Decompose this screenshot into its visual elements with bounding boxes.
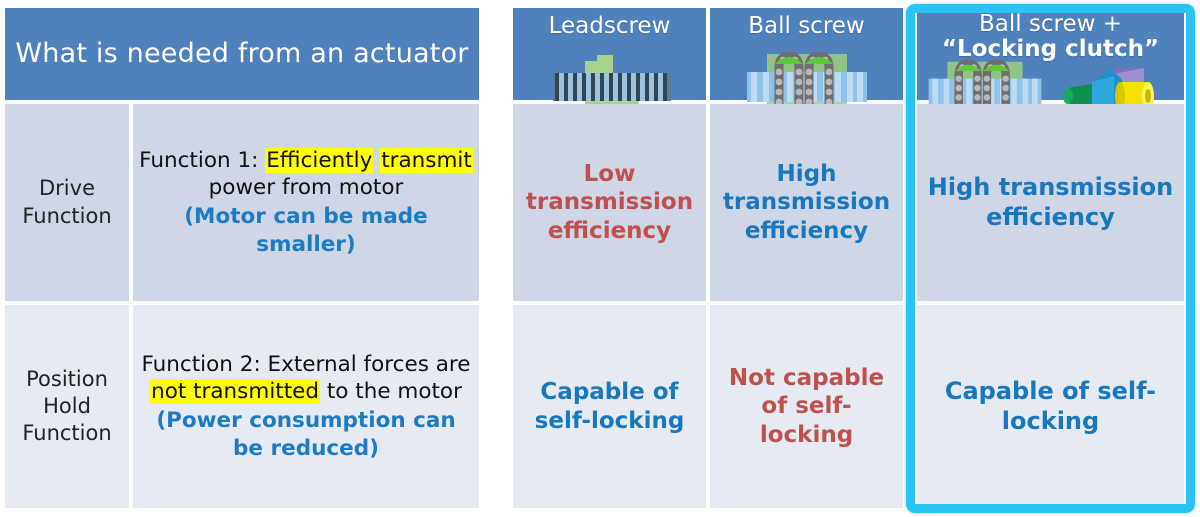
desc-hold-post: to the motor [320, 379, 462, 404]
desc-hold-pre: Function 2: External forces are [141, 352, 470, 377]
desc-drive-pre: Function 1: [139, 148, 265, 173]
cell-drive-leadscrew: Low transmission efficiency [513, 104, 706, 301]
cell-hold-ballscrew-clutch-text: Capable of self-locking [917, 377, 1184, 436]
row-drive-function-label: DriveFunction [5, 175, 129, 230]
cell-hold-leadscrew-text: Capable of self-locking [513, 378, 706, 434]
row-drive-function-description: Function 1: Efficiently transmit power f… [133, 147, 479, 258]
desc-drive-highlight-1: Efficiently [265, 148, 373, 173]
divider-row1-row2-right [513, 301, 1184, 304]
desc-hold-highlight-1: not transmitted [150, 379, 320, 404]
cell-drive-ballscrew-text: High transmission efficiency [710, 160, 903, 244]
cell-drive-ballscrew-clutch: High transmission efficiency [917, 104, 1184, 301]
row-position-hold-label-cell: PositionHoldFunction [5, 305, 129, 508]
header-column-ballscrew-label: Ball screw [710, 8, 903, 39]
header-column-ballscrew-clutch-label: Ball screw + [979, 11, 1122, 37]
desc-drive-post: power from motor [209, 175, 404, 200]
cell-drive-ballscrew-clutch-text: High transmission efficiency [917, 173, 1184, 232]
desc-drive-highlight-2: transmit [380, 148, 473, 173]
row-position-hold-description: Function 2: External forces are not tran… [133, 351, 479, 462]
cell-hold-ballscrew-clutch: Capable of self-locking [917, 305, 1184, 508]
desc-drive-accent: (Motor can be made smaller) [139, 203, 473, 258]
desc-hold-accent: (Power consumption can be reduced) [139, 407, 473, 462]
cell-drive-ballscrew: High transmission efficiency [710, 104, 903, 301]
row-position-hold-label: PositionHoldFunction [5, 366, 129, 448]
divider-header-row1 [5, 100, 479, 103]
cell-hold-leadscrew: Capable of self-locking [513, 305, 706, 508]
cell-hold-ballscrew-text: Not capable of self-locking [710, 364, 903, 448]
divider-ballscrew-clutch [903, 8, 906, 508]
comparison-table-slide: What is needed from an actuator Leadscre… [0, 0, 1200, 517]
divider-label-description [129, 104, 132, 508]
cell-drive-leadscrew-text: Low transmission efficiency [513, 160, 706, 244]
divider-leadscrew-ballscrew [706, 8, 709, 508]
header-column-leadscrew-label: Leadscrew [513, 8, 706, 39]
header-title-cell: What is needed from an actuator [5, 8, 479, 100]
row-drive-function-label-cell: DriveFunction [5, 104, 129, 301]
row-position-hold-description-cell: Function 2: External forces are not tran… [133, 305, 479, 508]
cell-hold-ballscrew: Not capable of self-locking [710, 305, 903, 508]
row-drive-function-description-cell: Function 1: Efficiently transmit power f… [133, 104, 479, 301]
divider-row1-row2 [5, 301, 479, 304]
page-title: What is needed from an actuator [5, 38, 479, 69]
